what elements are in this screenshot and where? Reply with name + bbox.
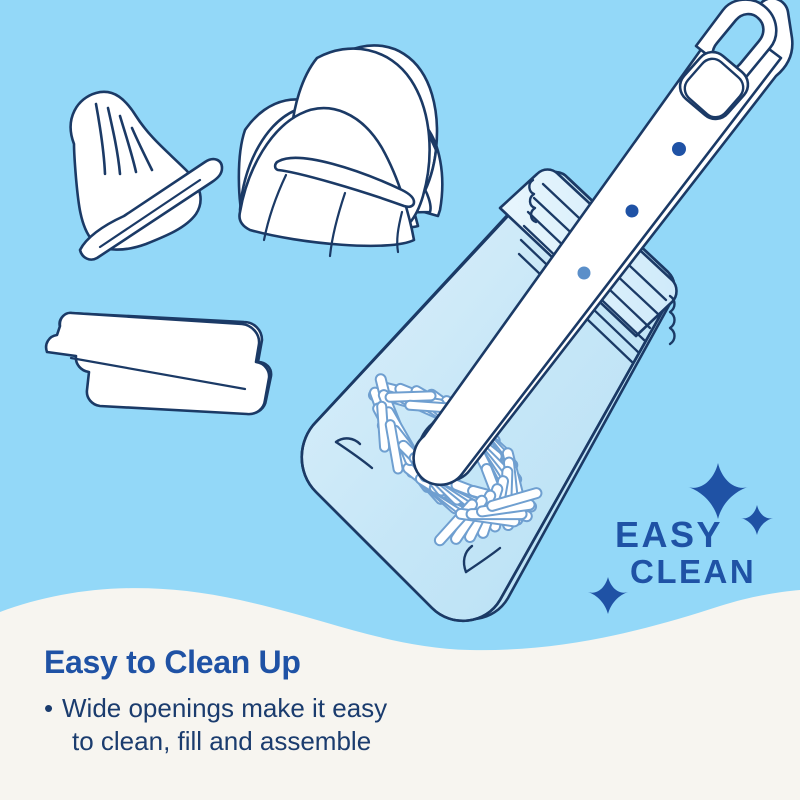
easy-clean-line-2: CLEAN: [630, 555, 756, 588]
caption-bullet-list: • Wide openings make it easy to clean, f…: [44, 692, 564, 759]
easy-clean-badge: EASY CLEAN: [600, 505, 770, 595]
bullet-marker: •: [44, 692, 53, 725]
product-feature-image: EASY CLEAN Easy to Clean Up • Wide openi…: [0, 0, 800, 800]
caption-bullet-item: • Wide openings make it easy to clean, f…: [44, 692, 564, 759]
caption-title: Easy to Clean Up: [44, 645, 564, 680]
bullet-line-1: Wide openings make it easy: [62, 693, 387, 723]
bullet-line-2: to clean, fill and assemble: [62, 725, 564, 758]
easy-clean-line-1: EASY: [615, 517, 723, 553]
caption-block: Easy to Clean Up • Wide openings make it…: [44, 645, 564, 759]
